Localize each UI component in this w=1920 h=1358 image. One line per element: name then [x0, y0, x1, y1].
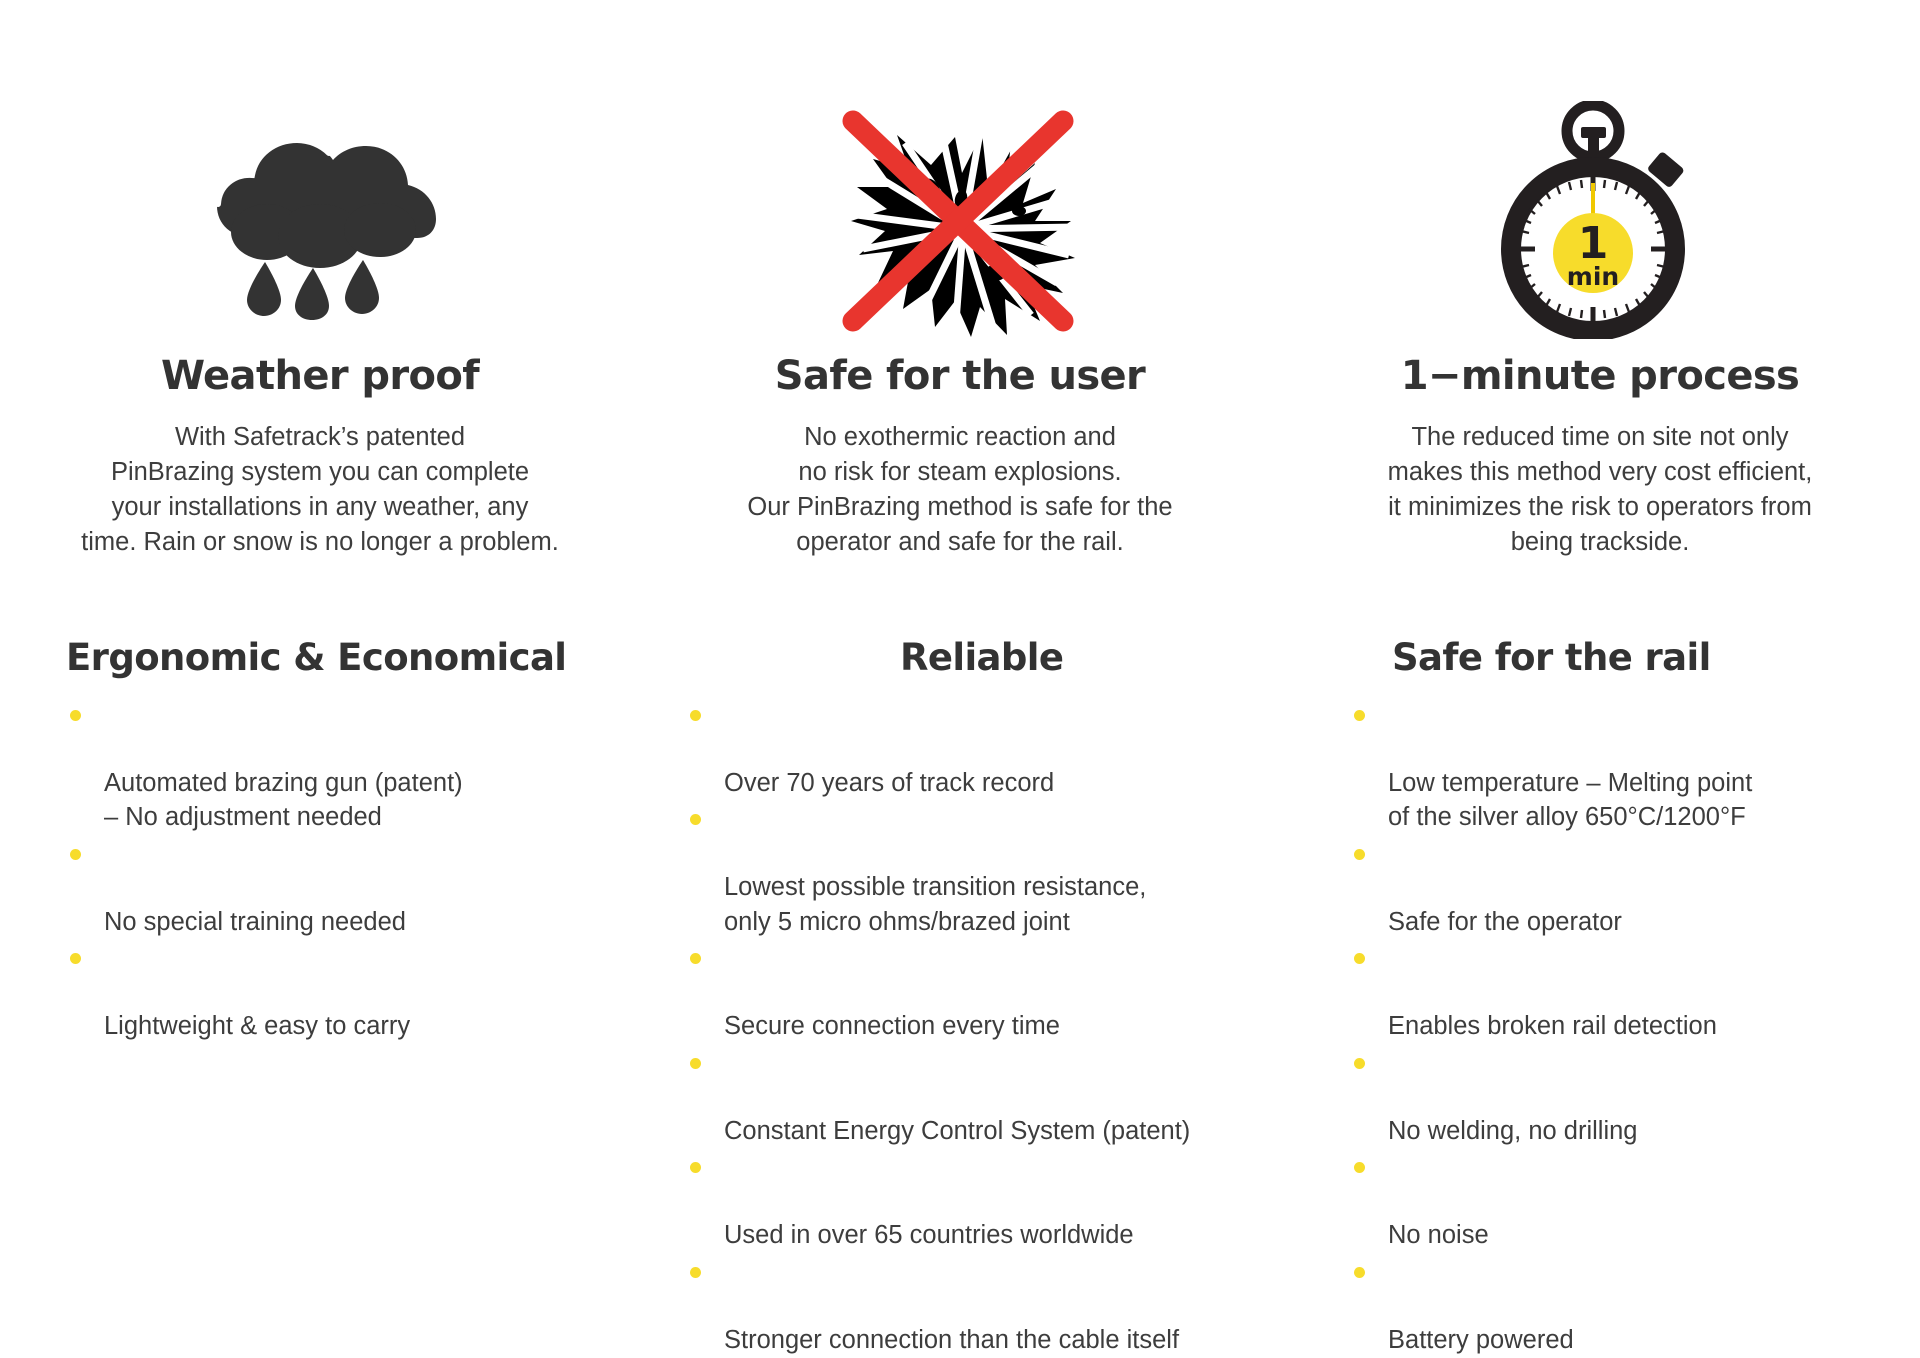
feature-card-weather-proof: Weather proof With Safetrack’s patented …	[0, 86, 640, 560]
list-item: No welding, no drilling	[1350, 1045, 1920, 1149]
feature-card-safe-for-user: Safe for the user No exothermic reaction…	[640, 86, 1280, 560]
bullet-dot-icon	[690, 710, 701, 721]
bullet-dot-icon	[690, 953, 701, 964]
stopwatch-icon: 1 min	[1493, 86, 1708, 354]
bullet-dot-icon	[690, 814, 701, 825]
list-item-text: No special training needed	[104, 908, 406, 936]
bullet-list: Over 70 years of track record Lowest pos…	[660, 697, 1320, 1358]
bullet-group-ergonomic-economical: Ergonomic & Economical Automated brazing…	[0, 638, 660, 1358]
list-item: Lightweight & easy to carry	[66, 940, 660, 1044]
feature-body: The reduced time on site not only makes …	[1350, 420, 1850, 560]
list-item-text: Battery powered	[1388, 1326, 1574, 1354]
infographic-page: Weather proof With Safetrack’s patented …	[0, 0, 1920, 1280]
list-item: Over 70 years of track record	[686, 697, 1320, 801]
bullet-dot-icon	[690, 1267, 701, 1278]
feature-title: 1−minute process	[1401, 354, 1800, 398]
list-item-text: Lightweight & easy to carry	[104, 1012, 410, 1040]
bullet-dot-icon	[690, 1162, 701, 1173]
list-item: Secure connection every time	[686, 940, 1320, 1044]
bullet-dot-icon	[1354, 710, 1365, 721]
bullet-group-title: Safe for the rail	[1320, 638, 1920, 678]
list-item: Safe for the operator	[1350, 836, 1920, 940]
list-item-text: Used in over 65 countries worldwide	[724, 1221, 1134, 1249]
list-item: Used in over 65 countries worldwide	[686, 1149, 1320, 1253]
list-item-text: Low temperature – Melting point of the s…	[1388, 769, 1752, 832]
feature-card-one-minute-process: 1 min 1−minute process The reduced time …	[1280, 86, 1920, 560]
bullet-dot-icon	[1354, 1058, 1365, 1069]
rain-cloud-icon	[195, 86, 445, 354]
bullet-group-reliable: Reliable Over 70 years of track record L…	[660, 638, 1320, 1358]
list-item-text: Constant Energy Control System (patent)	[724, 1117, 1190, 1145]
bullet-dot-icon	[1354, 953, 1365, 964]
list-item: Battery powered	[1350, 1254, 1920, 1358]
bullet-group-title: Reliable	[660, 638, 1320, 678]
list-item-text: No noise	[1388, 1221, 1489, 1249]
bullet-dot-icon	[1354, 1162, 1365, 1173]
list-item: Automated brazing gun (patent) – No adju…	[66, 697, 660, 835]
stopwatch-unit: min	[1566, 262, 1618, 291]
list-item: Enables broken rail detection	[1350, 940, 1920, 1044]
list-item-text: No welding, no drilling	[1388, 1117, 1637, 1145]
bullet-groups-row: Ergonomic & Economical Automated brazing…	[0, 638, 1920, 1358]
list-item: No noise	[1350, 1149, 1920, 1253]
list-item-text: Safe for the operator	[1388, 908, 1622, 936]
features-row: Weather proof With Safetrack’s patented …	[0, 0, 1920, 560]
feature-body: No exothermic reaction and no risk for s…	[725, 420, 1195, 560]
list-item: Constant Energy Control System (patent)	[686, 1045, 1320, 1149]
bullet-dot-icon	[1354, 1267, 1365, 1278]
feature-title: Weather proof	[161, 354, 479, 398]
bullet-dot-icon	[70, 849, 81, 860]
bullet-group-title: Ergonomic & Economical	[66, 638, 660, 678]
list-item-text: Stronger connection than the cable itsel…	[724, 1326, 1179, 1354]
bullet-dot-icon	[690, 1058, 701, 1069]
list-item-text: Over 70 years of track record	[724, 769, 1054, 797]
list-item: No special training needed	[66, 836, 660, 940]
list-item: Low temperature – Melting point of the s…	[1350, 697, 1920, 835]
list-item: Lowest possible transition resistance, o…	[686, 801, 1320, 939]
feature-body: With Safetrack’s patented PinBrazing sys…	[80, 420, 560, 560]
bullet-list: Low temperature – Melting point of the s…	[1320, 697, 1920, 1358]
list-item-text: Automated brazing gun (patent) – No adju…	[104, 769, 463, 832]
list-item-text: Lowest possible transition resistance, o…	[724, 873, 1146, 936]
no-explosion-icon	[835, 86, 1085, 354]
bullet-dot-icon	[1354, 849, 1365, 860]
list-item-text: Secure connection every time	[724, 1012, 1060, 1040]
bullet-list: Automated brazing gun (patent) – No adju…	[66, 697, 660, 1045]
list-item-text: Enables broken rail detection	[1388, 1012, 1717, 1040]
bullet-group-safe-for-rail: Safe for the rail Low temperature – Melt…	[1320, 638, 1920, 1358]
list-item: Stronger connection than the cable itsel…	[686, 1254, 1320, 1358]
bullet-dot-icon	[70, 953, 81, 964]
bullet-dot-icon	[70, 710, 81, 721]
feature-title: Safe for the user	[775, 354, 1145, 398]
